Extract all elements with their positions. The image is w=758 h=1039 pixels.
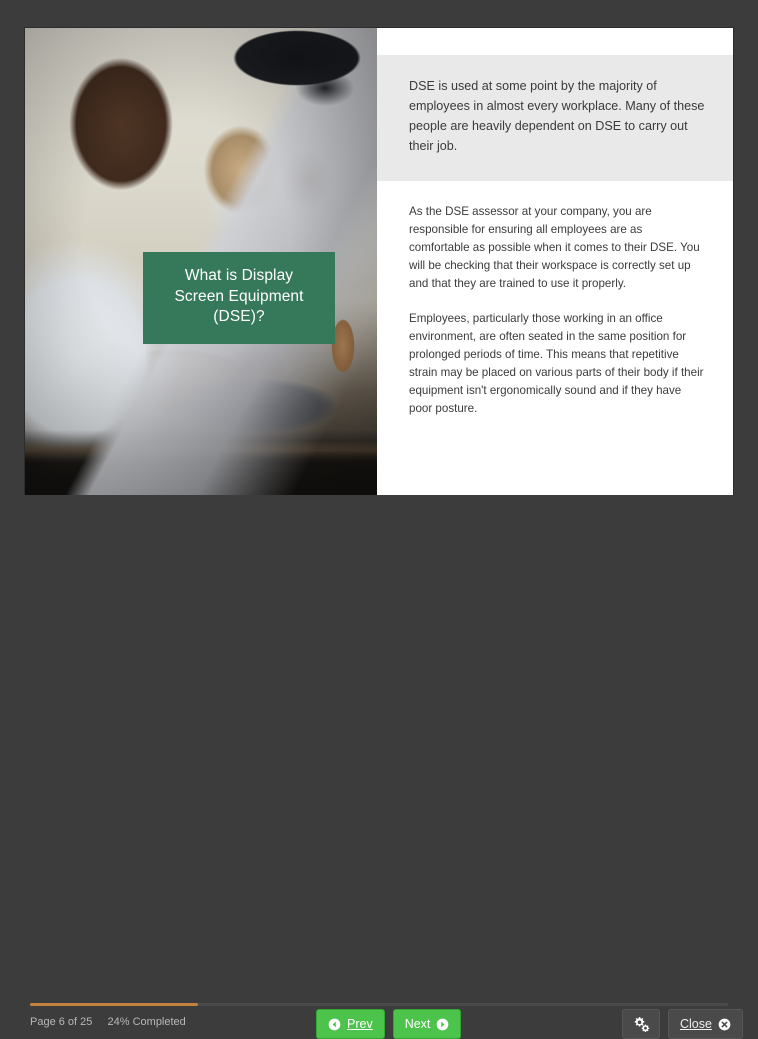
arrow-left-circle-icon (328, 1018, 341, 1031)
slide-text-panel: DSE is used at some point by the majorit… (377, 28, 733, 495)
completion-label: 24% Completed (108, 1016, 186, 1028)
slide-title-line-2: Screen Equipment (153, 287, 325, 308)
player-utility-buttons: Close (622, 1009, 743, 1039)
progress-bar-track[interactable] (30, 1003, 728, 1006)
close-button[interactable]: Close (668, 1009, 743, 1039)
callout-box: DSE is used at some point by the majorit… (377, 55, 733, 181)
next-button-label: Next (405, 1017, 431, 1031)
slide-title-line-1: What is Display (153, 266, 325, 287)
next-button[interactable]: Next (393, 1009, 462, 1039)
body-paragraph-1: As the DSE assessor at your company, you… (409, 203, 705, 294)
progress-bar-fill (30, 1003, 198, 1006)
close-circle-icon (718, 1018, 731, 1031)
navigation-buttons: Prev Next (316, 1009, 461, 1039)
slide-title-overlay: What is Display Screen Equipment (DSE)? (143, 252, 335, 344)
page-status: Page 6 of 25 24% Completed (30, 1016, 186, 1028)
body-paragraph-2: Employees, particularly those working in… (409, 310, 705, 419)
arrow-right-circle-icon (436, 1018, 449, 1031)
close-button-label: Close (680, 1017, 712, 1031)
prev-button[interactable]: Prev (316, 1009, 385, 1039)
body-copy: As the DSE assessor at your company, you… (377, 181, 733, 419)
player-control-bar: Page 6 of 25 24% Completed Prev Next (0, 495, 758, 560)
gears-icon (632, 1016, 650, 1032)
prev-button-label: Prev (347, 1017, 373, 1031)
page-number-label: Page 6 of 25 (30, 1016, 92, 1028)
settings-button[interactable] (622, 1009, 660, 1039)
slide-image: What is Display Screen Equipment (DSE)? (25, 28, 377, 495)
slide-content: What is Display Screen Equipment (DSE)? … (25, 28, 733, 495)
course-player: What is Display Screen Equipment (DSE)? … (0, 0, 758, 560)
slide-title-line-3: (DSE)? (153, 307, 325, 328)
